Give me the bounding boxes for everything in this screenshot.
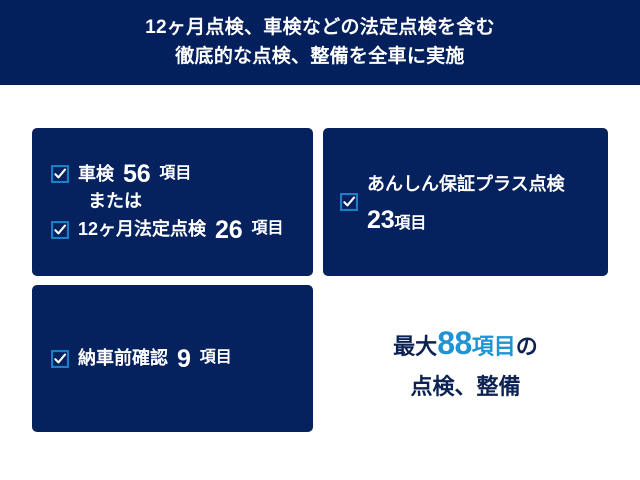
card-warranty-content: あんしん保証プラス点検 23 項目 — [323, 128, 608, 276]
summary-subtitle: 点検、整備 — [410, 369, 520, 401]
checkbox-checked-icon — [51, 350, 69, 368]
predelivery-unit: 項目 — [200, 348, 232, 368]
summary-suffix: の — [516, 329, 538, 361]
checkbox-checked-icon — [51, 165, 69, 183]
warranty-line-1: あんしん保証プラス点検 — [367, 170, 565, 196]
inspection-unit-12month: 項目 — [251, 219, 283, 239]
inspection-label-shaken: 車検 — [78, 163, 114, 186]
header-line-2: 徹底的な点検、整備を全車に実施 — [175, 44, 465, 71]
summary-total-items: 最大 88 項目 の 点検、整備 — [323, 325, 608, 401]
summary-line-1: 最大 88 項目 の — [393, 325, 538, 362]
warranty-text-block: あんしん保証プラス点検 23 項目 — [367, 170, 565, 235]
warranty-row: あんしん保証プラス点検 23 項目 — [323, 170, 608, 235]
inspection-label-or: または — [88, 190, 142, 213]
summary-unit: 項目 — [472, 329, 516, 361]
inspection-unit-shaken: 項目 — [159, 164, 191, 184]
checkbox-checked-icon — [51, 221, 69, 239]
header-banner: 12ヶ月点検、車検などの法定点検を含む 徹底的な点検、整備を全車に実施 — [0, 0, 640, 85]
summary-prefix: 最大 — [393, 329, 437, 361]
predelivery-number: 9 — [177, 343, 191, 375]
summary-line-2: 点検、整備 — [410, 369, 520, 401]
inspection-number-12month: 26 — [215, 214, 242, 246]
inspection-row-or: または — [32, 190, 313, 213]
inspection-row-12month: 12ヶ月法定点検 26 項目 — [32, 214, 313, 246]
inspection-number-shaken: 56 — [123, 158, 150, 190]
header-line-1: 12ヶ月点検、車検などの法定点検を含む — [145, 15, 495, 42]
card-predelivery-check: 納車前確認 9 項目 — [32, 285, 313, 432]
warranty-unit: 項目 — [394, 209, 426, 233]
inspection-label-12month: 12ヶ月法定点検 — [78, 218, 206, 241]
checkbox-checked-icon — [340, 193, 358, 211]
card-predelivery-content: 納車前確認 9 項目 — [32, 285, 313, 432]
summary-number: 88 — [437, 325, 472, 362]
warranty-label: あんしん保証プラス点検 — [367, 170, 565, 196]
warranty-line-2: 23 項目 — [367, 206, 565, 235]
card-inspection-content: 車検 56 項目 または 12ヶ月法定点検 26 項目 — [32, 128, 313, 276]
card-warranty-plus-inspection: あんしん保証プラス点検 23 項目 — [323, 128, 608, 276]
predelivery-row: 納車前確認 9 項目 — [32, 343, 313, 375]
card-inspection-items: 車検 56 項目 または 12ヶ月法定点検 26 項目 — [32, 128, 313, 276]
inspection-row-shaken: 車検 56 項目 — [32, 158, 313, 190]
predelivery-label: 納車前確認 — [78, 347, 168, 370]
warranty-number: 23 — [367, 206, 394, 235]
